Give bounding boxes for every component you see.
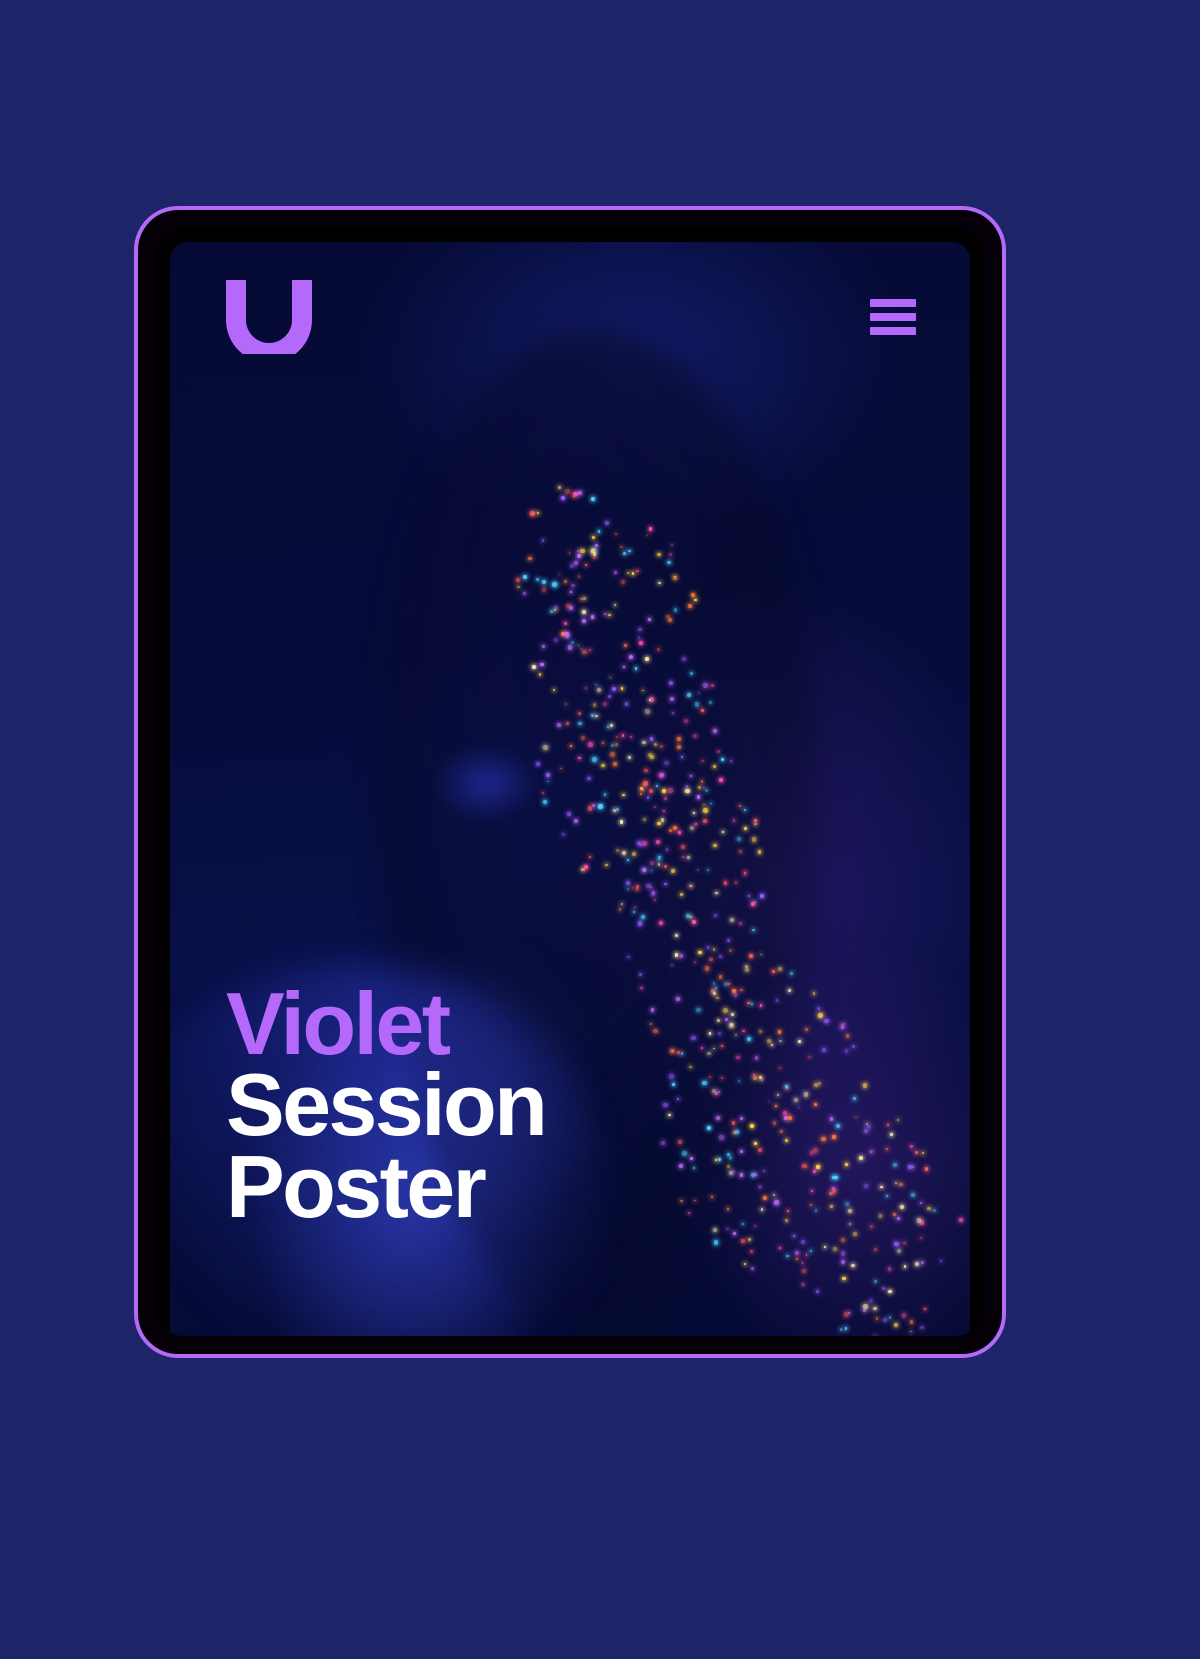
portrait-lips-highlight	[434, 745, 538, 822]
headline-line-poster: Poster	[226, 1146, 545, 1228]
screen-header: U	[170, 242, 970, 392]
letter-u-logo-icon	[226, 280, 312, 354]
hamburger-menu-icon[interactable]	[870, 299, 916, 335]
headline-line-violet: Violet	[226, 983, 545, 1065]
device-screen: U Violet Session Poster	[170, 242, 970, 1336]
hamburger-bar-3	[870, 327, 916, 335]
headline-line-session: Session	[226, 1064, 545, 1146]
hamburger-bar-1	[870, 299, 916, 307]
brand-logo[interactable]: U	[226, 280, 312, 354]
tablet-device-frame: U Violet Session Poster	[134, 206, 1006, 1358]
device-bezel: U Violet Session Poster	[156, 228, 984, 1336]
hamburger-bar-2	[870, 313, 916, 321]
hero-headline: Violet Session Poster	[226, 983, 545, 1228]
poster-page: U Violet Session Poster	[0, 0, 1200, 1659]
